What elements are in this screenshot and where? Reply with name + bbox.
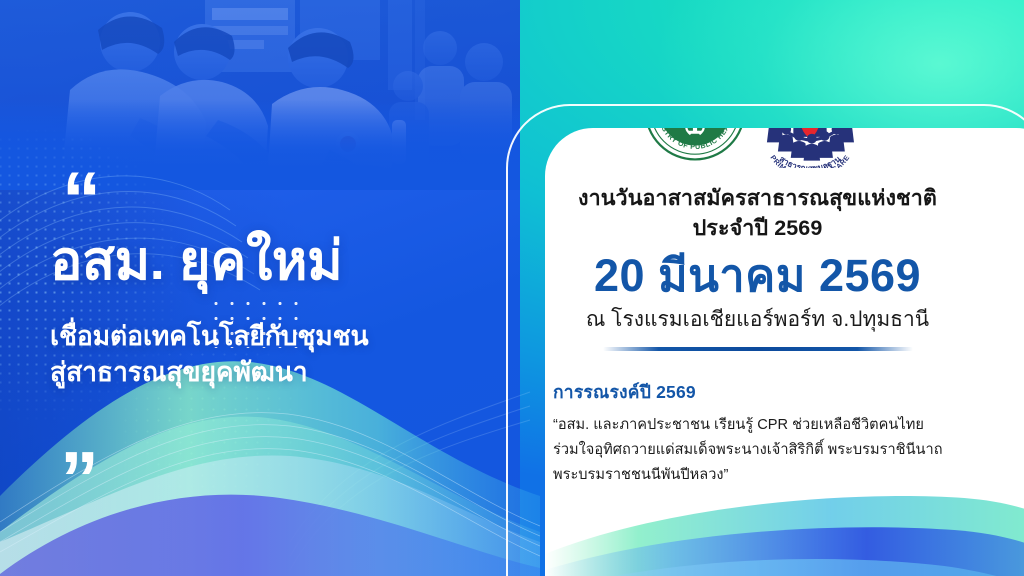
campaign-text-line-2: ร่วมใจอุทิศถวายแด่สมเด็จพระนางเจ้าสิริกิ… (553, 438, 968, 463)
campaign-text-line-1: “อสม. และภาคประชาชน เรียนรู้ CPR ช่วยเหล… (553, 413, 968, 438)
campaign-block: การรณรงค์ปี 2569 “อสม. และภาคประชาชน เรี… (545, 378, 970, 488)
event-title-line-1: งานวันอาสาสมัครสาธารณสุขแห่งชาติ (578, 186, 937, 210)
event-title: งานวันอาสาสมัครสาธารณสุขแห่งชาติ ประจำปี… (545, 184, 970, 243)
event-date: 20 มีนาคม 2569 (545, 251, 970, 301)
headline-subtitle-line-1: เชื่อมต่อเทคโนโลยีกับชุมชน (50, 318, 510, 354)
event-info-card: กระทรวงสาธารณสุข MINISTRY OF PUBLIC HEAL… (545, 128, 1024, 576)
headline-subtitle: เชื่อมต่อเทคโนโลยีกับชุมชน สู่สาธารณสุขย… (50, 318, 510, 390)
event-venue: ณ โรงแรมเอเชียแอร์พอร์ท จ.ปทุมธานี (545, 306, 970, 334)
logo-group: กระทรวงสาธารณสุข MINISTRY OF PUBLIC HEAL… (643, 128, 865, 168)
event-details-block: งานวันอาสาสมัครสาธารณสุขแห่งชาติ ประจำปี… (545, 184, 970, 351)
event-title-line-2: ประจำปี 2569 (693, 216, 823, 240)
primary-health-care-logo: สาธารณสุขมูลฐาน PRIMARY HEALTH CARE (755, 128, 865, 168)
main-headline: อสม. ยุคใหม่ (50, 232, 500, 290)
closing-quote-mark: ” (60, 456, 97, 503)
headline-subtitle-line-2: สู่สาธารณสุขยุคพัฒนา (50, 354, 510, 390)
campaign-text-line-3: พระบรมราชชนนีพันปีหลวง” (553, 463, 968, 488)
campaign-title: การรณรงค์ปี 2569 (553, 378, 968, 406)
opening-quote-mark: “ (62, 176, 99, 223)
ministry-of-public-health-logo: กระทรวงสาธารณสุข MINISTRY OF PUBLIC HEAL… (643, 128, 747, 162)
card-bottom-waves (545, 496, 1024, 576)
campaign-text: “อสม. และภาคประชาชน เรียนรู้ CPR ช่วยเหล… (553, 413, 968, 488)
poster-canvas: “ อสม. ยุคใหม่ เชื่อมต่อเทคโนโลยีกับชุมช… (0, 0, 1024, 576)
section-divider (603, 347, 913, 351)
